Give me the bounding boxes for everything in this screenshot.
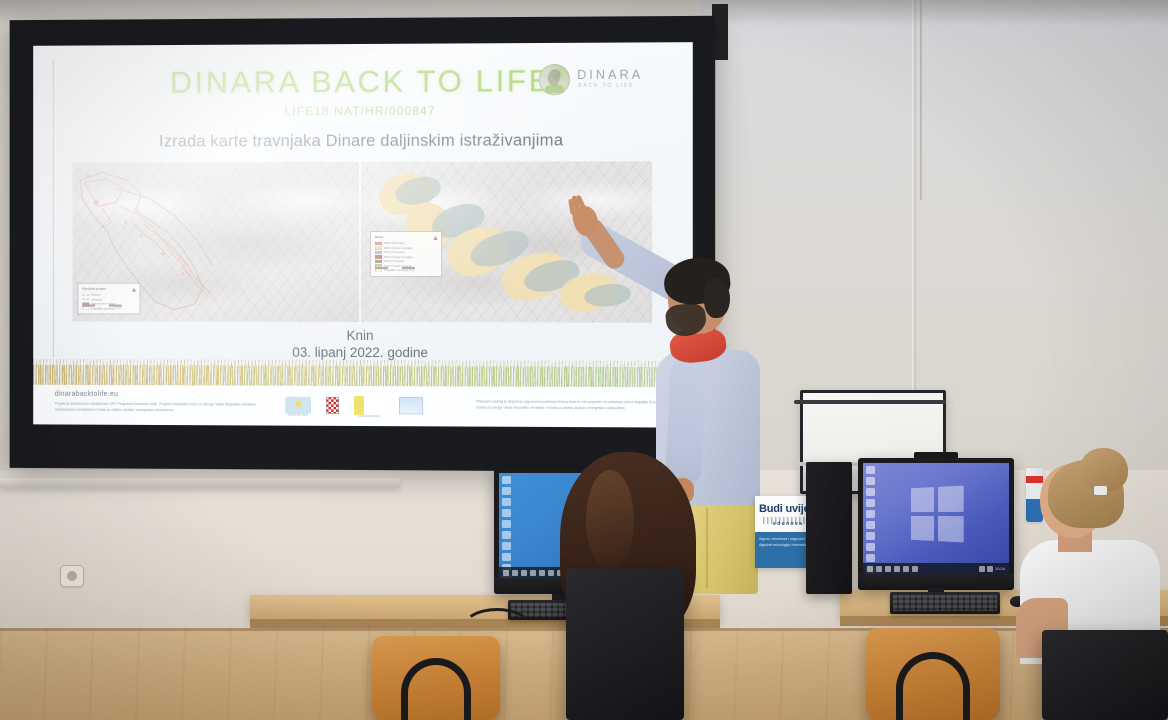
funder-logos: EUROPSKA UNIJA LIFE NAT/HR/000847 [285, 396, 423, 416]
scalebar: 0 5 10 km [82, 304, 121, 310]
keyboard-right[interactable] [890, 592, 1000, 614]
trouser-fold [706, 508, 708, 588]
student-blonde-bun [1018, 448, 1168, 658]
poster-brand: edunova [773, 521, 803, 527]
logo-caption: LIFE NAT/HR/000847 [354, 416, 384, 418]
natura-2000-logo [399, 397, 423, 414]
croatian-coat-of-arms-logo [326, 397, 339, 414]
classroom-scene: DINARA BACK TO LIFE LIFE18 NAT/HR/000847… [0, 0, 1168, 720]
logo-caption: EUROPSKA UNIJA [285, 415, 311, 417]
chair-frame [896, 652, 970, 720]
pc-tower-right [806, 462, 852, 594]
legend-swatch [375, 255, 382, 258]
student-monitor-right[interactable]: 10:24 [858, 458, 1014, 590]
terrain-map-panel: Geološki podaci Rasjedi Vodotoci Antropo… [72, 162, 359, 322]
windows-logo-wallpaper-icon [911, 486, 964, 543]
slide-subtitle: Izrada karte travnjaka Dinare daljinskim… [33, 131, 693, 152]
monitor-back-foreground [566, 568, 684, 720]
terrain-map-legend: Geološki podaci Rasjedi Vodotoci Antropo… [78, 283, 139, 313]
student-2-hair-clip [1094, 486, 1107, 495]
legend-swatch [375, 242, 382, 245]
north-arrow-icon: ▲ [131, 286, 137, 297]
taskbar[interactable]: 10:24 [863, 563, 1009, 574]
project-website-url: dinarabacktolife.eu [55, 391, 118, 398]
chair-foreground-left[interactable] [372, 636, 500, 720]
project-code: LIFE18 NAT/HR/000847 [33, 103, 693, 119]
eu-life-programme-logo: EUROPSKA UNIJA [285, 397, 311, 414]
funding-fine-print: Projekt je sufinanciran sredstvima LIFE … [55, 401, 263, 414]
student-1-hair-highlight [586, 470, 634, 570]
power-outlet [60, 565, 84, 587]
chair-back-foreground-right [1042, 630, 1168, 720]
dinara-logo-name: DINARA [577, 68, 643, 82]
dinara-emblem-icon [539, 64, 570, 95]
dinara-logo: DINARA BACK TO LIFE [539, 63, 646, 98]
system-tray[interactable]: 10:24 [979, 566, 1005, 572]
chair-foreground-right[interactable] [866, 628, 1000, 720]
scalebar: 0 5 10 km [375, 267, 415, 273]
chair-frame [401, 658, 471, 720]
taskbar-clock: 10:24 [995, 566, 1005, 571]
dinara-logo-tagline: BACK TO LIFE [578, 83, 634, 89]
legend-line-symbol [82, 294, 89, 295]
north-arrow-icon: ▲ [432, 235, 438, 246]
legend-title: Klase [375, 235, 437, 240]
wall-ledge [0, 478, 400, 488]
monitor-right-screen[interactable]: 10:24 [863, 463, 1009, 574]
legend-swatch [375, 251, 382, 254]
whiteboard-top-rail [794, 400, 946, 404]
scalebar-label: 10 km [408, 269, 415, 273]
cable [462, 608, 532, 648]
legend-swatch [375, 260, 382, 263]
legend-title: Geološki podaci [82, 286, 135, 291]
presenter-hair-back [704, 278, 730, 318]
scalebar-label: 5 [99, 307, 100, 311]
classification-map-legend: Klase NDVI (Travnjak) NDVI (Umjeti travn… [371, 232, 441, 276]
legend-swatch [375, 246, 382, 249]
scalebar-label: 0 [375, 269, 376, 273]
scalebar-label: 0 [82, 307, 83, 311]
legend-line-symbol [82, 299, 89, 300]
desktop-icons[interactable] [502, 476, 516, 578]
wall-corner-line [920, 0, 922, 200]
desktop-icons[interactable] [866, 466, 880, 574]
scalebar-label: 10 km [115, 307, 121, 311]
scalebar-label: 5 [392, 269, 393, 273]
life-programme-logo: LIFE NAT/HR/000847 [354, 396, 384, 415]
